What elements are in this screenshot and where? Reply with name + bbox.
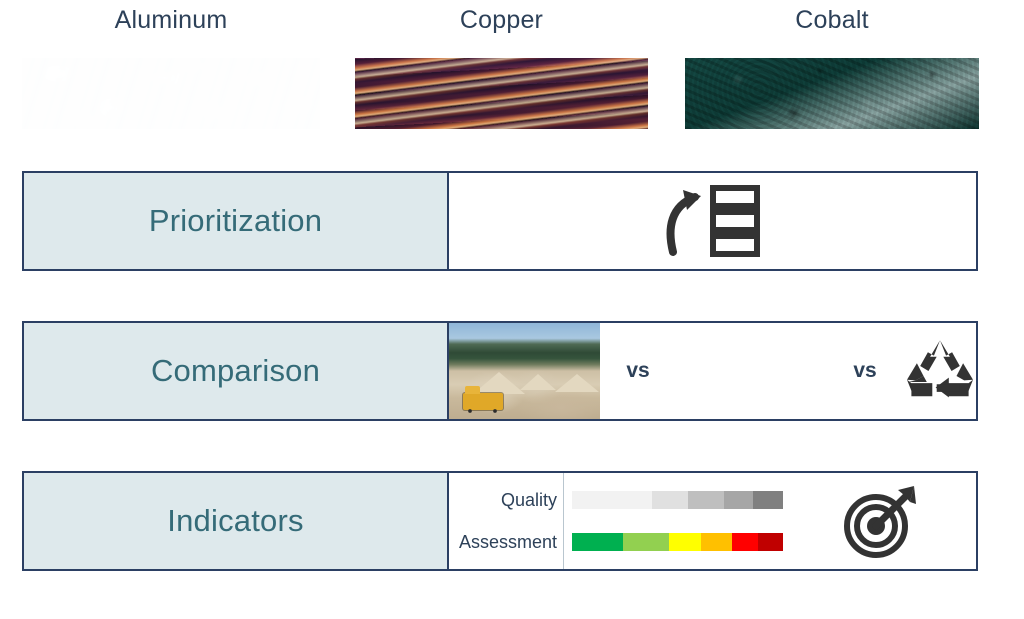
scale-segment xyxy=(753,491,783,509)
material-column-copper: Copper xyxy=(355,0,648,129)
assessment-label: Assessment xyxy=(449,521,557,563)
quality-label: Quality xyxy=(449,479,557,521)
indicators-content: Quality Assessment xyxy=(449,473,976,569)
indicators-row[interactable]: Indicators Quality Assessment xyxy=(22,471,978,571)
material-title: Cobalt xyxy=(685,0,979,40)
recycling-icon xyxy=(904,338,976,404)
prioritize-icon-wrap xyxy=(449,173,976,269)
material-title: Aluminum xyxy=(22,0,320,40)
scale-segment xyxy=(572,491,652,509)
scale-segment xyxy=(732,533,757,551)
reorder-prioritize-icon xyxy=(665,184,761,258)
scale-segment xyxy=(572,533,623,551)
open-pit-mine-photo xyxy=(676,323,827,419)
gravel-quarry-photo xyxy=(449,323,600,419)
scale-segment xyxy=(758,533,783,551)
haul-truck xyxy=(463,393,503,410)
target-icon-wrap xyxy=(784,473,976,569)
quality-scale-bar xyxy=(572,491,783,509)
indicator-scale-labels: Quality Assessment xyxy=(449,473,564,569)
scale-segment xyxy=(701,533,733,551)
comparison-row[interactable]: Comparison vs vs xyxy=(22,321,978,421)
comparison-label: Comparison xyxy=(24,323,449,419)
indicator-scale-bars xyxy=(564,473,784,569)
comparison-content: vs vs xyxy=(449,323,976,419)
scale-segment xyxy=(724,491,754,509)
indicators-label: Indicators xyxy=(24,473,449,569)
materials-header-strip: Aluminum Copper Cobalt xyxy=(0,0,1024,140)
recycling-icon-wrap xyxy=(903,323,976,419)
target-bullseye-icon xyxy=(840,482,920,560)
material-column-aluminum: Aluminum xyxy=(22,0,320,129)
material-title: Copper xyxy=(355,0,648,40)
assessment-scale-bar xyxy=(572,533,783,551)
quality-bar-slot xyxy=(572,479,784,521)
scale-segment xyxy=(688,491,724,509)
scale-segment xyxy=(623,533,669,551)
scale-segment xyxy=(652,491,688,509)
prioritization-label: Prioritization xyxy=(24,173,449,269)
copper-wire-photo xyxy=(355,58,648,129)
cobalt-powder-photo xyxy=(685,58,979,129)
aluminum-billets-photo xyxy=(22,58,320,129)
prioritization-row[interactable]: Prioritization xyxy=(22,171,978,271)
scale-segment xyxy=(669,533,701,551)
material-column-cobalt: Cobalt xyxy=(685,0,979,129)
vs-separator-right: vs xyxy=(827,323,903,419)
prioritization-content xyxy=(449,173,976,269)
assessment-bar-slot xyxy=(572,521,784,563)
vs-separator-left: vs xyxy=(600,323,676,419)
